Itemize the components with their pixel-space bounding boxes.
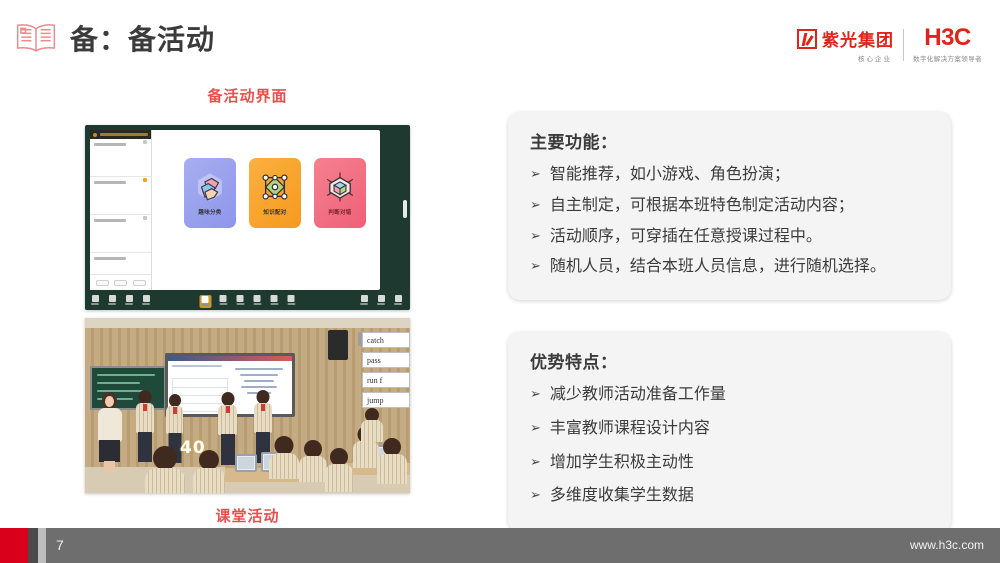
main-function-item-1-text: 智能推荐，如小游戏、角色扮演； [550, 163, 790, 188]
ziguang-name: 紫光集团 [822, 26, 894, 51]
open-book-icon [14, 21, 58, 55]
main-function-item-2-text: 自主制定，可根据本班特色制定活动内容； [550, 194, 854, 219]
toolbar-pages-icon[interactable] [90, 295, 100, 308]
ziguang-subtitle: 核心企业 [858, 53, 892, 63]
photo-student-seated-3 [269, 436, 299, 478]
brand-divider [903, 29, 904, 61]
main-function-item-3: ➢ 活动顺序，可穿插在任意授课过程中。 [530, 225, 931, 250]
footer-url: www.h3c.com [910, 538, 984, 552]
ziguang-logo: 紫光集团 核心企业 [797, 26, 894, 63]
photo-ceiling [85, 318, 410, 328]
footer-light-block [38, 528, 46, 563]
sidebar-header-title [100, 133, 148, 136]
word-card-1: catch [362, 332, 410, 348]
panel-advantages-heading: 优势特点： [530, 348, 931, 373]
photo-student-seated-4 [299, 440, 327, 482]
cube-shape-icon [323, 170, 357, 204]
toolbar-eraser-icon[interactable] [235, 295, 245, 308]
sidebar-item-2[interactable] [90, 177, 151, 215]
word-card-3: run f [362, 372, 410, 388]
toolbar-select-icon[interactable] [199, 295, 211, 308]
page-title: 备：备活动 [70, 18, 215, 58]
caption-classroom: 课堂活动 [85, 505, 410, 526]
sidebar-item-1-label [94, 143, 126, 146]
photo-speaker [328, 330, 348, 360]
toolbar-pen-icon[interactable] [218, 295, 228, 308]
advantage-item-1-text: 减少教师活动准备工作量 [550, 383, 726, 408]
photo-student-seated-1 [145, 446, 185, 493]
sidebar-item-4-label [94, 257, 126, 260]
activity-card-1-label: 趣味分类 [198, 208, 221, 216]
bullet-arrow-icon: ➢ [530, 451, 541, 474]
sidebar-item-3-label [94, 219, 126, 222]
photo-tablet-1 [235, 454, 257, 472]
photo-student-seated-8 [361, 408, 383, 442]
slide-header: 备：备活动 紫光集团 核心企业 H3C 数字化解决方案领导者 [0, 0, 1000, 82]
toolbar-screen-icon[interactable] [286, 295, 296, 308]
h3c-subtitle: 数字化解决方案领导者 [913, 53, 982, 63]
network-nodes-icon [258, 170, 292, 204]
bullet-arrow-icon: ➢ [530, 484, 541, 507]
page-number: 7 [56, 537, 64, 553]
main-function-item-4: ➢ 随机人员，结合本班人员信息，进行随机选择。 [530, 255, 931, 280]
photo-teacher [97, 392, 123, 470]
toolbar-next-icon[interactable] [376, 295, 386, 308]
brand-logo: 紫光集团 核心企业 H3C 数字化解决方案领导者 [797, 26, 982, 63]
toolbar-undo-icon[interactable] [252, 295, 262, 308]
activity-card-3-label: 判断对错 [328, 208, 351, 216]
advantage-item-1: ➢ 减少教师活动准备工作量 [530, 383, 931, 408]
app-toolbar [85, 292, 410, 310]
bullet-arrow-icon: ➢ [530, 225, 541, 248]
bullet-arrow-icon: ➢ [530, 417, 541, 440]
sidebar-item-2-label [94, 181, 126, 184]
footer-accent-block [0, 528, 28, 563]
bullet-arrow-icon: ➢ [530, 255, 541, 278]
toolbar-right-group [359, 295, 403, 308]
bullet-arrow-icon: ➢ [530, 163, 541, 186]
main-function-item-3-text: 活动顺序，可穿插在任意授课过程中。 [550, 225, 822, 250]
word-card-2: pass [362, 352, 410, 368]
advantage-item-3: ➢ 增加学生积极主动性 [530, 451, 931, 476]
ziguang-mark-icon [797, 29, 817, 49]
main-function-item-1: ➢ 智能推荐，如小游戏、角色扮演； [530, 163, 931, 188]
toolbar-activity-icon[interactable] [141, 295, 151, 308]
advantage-item-4: ➢ 多维度收集学生数据 [530, 484, 931, 509]
canvas-scrollbar[interactable] [403, 200, 407, 218]
title-row: 备：备活动 [14, 18, 215, 58]
toolbar-left-group [90, 295, 151, 308]
sidebar-button-3[interactable] [133, 280, 146, 286]
bullet-arrow-icon: ➢ [530, 194, 541, 217]
sidebar-badge [143, 216, 147, 220]
toolbar-prev-icon[interactable] [359, 295, 369, 308]
footer-bar [46, 528, 1000, 563]
panel-main-functions-heading: 主要功能： [530, 128, 931, 153]
app-screenshot: 趣味分类 知识配对 [85, 125, 410, 310]
main-function-item-2: ➢ 自主制定，可根据本班特色制定活动内容； [530, 194, 931, 219]
toolbar-resource-icon[interactable] [107, 295, 117, 308]
activity-card-2[interactable]: 知识配对 [249, 158, 301, 228]
h3c-name: H3C [924, 26, 971, 50]
sidebar-footer-buttons [90, 274, 152, 290]
toolbar-center-group [199, 295, 296, 308]
advantage-item-4-text: 多维度收集学生数据 [550, 484, 694, 509]
activity-card-2-label: 知识配对 [263, 208, 286, 216]
activity-card-list: 趣味分类 知识配对 [170, 158, 380, 228]
slide-footer: 7 www.h3c.com [0, 528, 1000, 563]
panel-advantages: 优势特点： ➢ 减少教师活动准备工作量 ➢ 丰富教师课程设计内容 ➢ 增加学生积… [508, 332, 951, 532]
advantage-item-2-text: 丰富教师课程设计内容 [550, 417, 710, 442]
sidebar-badge-active [143, 178, 147, 182]
toolbar-add-icon[interactable] [393, 295, 403, 308]
photo-student-seated-5 [325, 448, 353, 492]
activity-card-3[interactable]: 判断对错 [314, 158, 366, 228]
panel-main-functions: 主要功能： ➢ 智能推荐，如小游戏、角色扮演； ➢ 自主制定，可根据本班特色制定… [508, 112, 951, 300]
photo-student-seated-7 [377, 438, 407, 484]
knot-shape-icon [193, 170, 227, 204]
sidebar-button-1[interactable] [96, 280, 109, 286]
h3c-logo: H3C 数字化解决方案领导者 [913, 26, 982, 63]
advantage-item-2: ➢ 丰富教师课程设计内容 [530, 417, 931, 442]
bullet-arrow-icon: ➢ [530, 383, 541, 406]
footer-dark-block [28, 528, 38, 563]
main-function-item-4-text: 随机人员，结合本班人员信息，进行随机选择。 [550, 255, 886, 280]
app-sidebar-header [90, 130, 151, 139]
photo-student-seated-2 [193, 450, 225, 493]
advantage-item-3-text: 增加学生积极主动性 [550, 451, 694, 476]
photo-word-cards: catch pass run f jump [362, 332, 410, 412]
sidebar-item-3[interactable] [90, 215, 151, 253]
toolbar-subject-icon[interactable] [124, 295, 134, 308]
classroom-activity-photo: catch pass run f jump 40 [85, 318, 410, 493]
app-sidebar [90, 130, 152, 290]
activity-card-1[interactable]: 趣味分类 [184, 158, 236, 228]
sidebar-button-2[interactable] [114, 280, 127, 286]
caption-interface: 备活动界面 [85, 85, 410, 106]
toolbar-more-icon[interactable] [269, 295, 279, 308]
word-card-4: jump [362, 392, 410, 408]
sidebar-item-1[interactable] [90, 139, 151, 177]
sidebar-dot-icon [93, 133, 97, 137]
sidebar-badge [143, 140, 147, 144]
